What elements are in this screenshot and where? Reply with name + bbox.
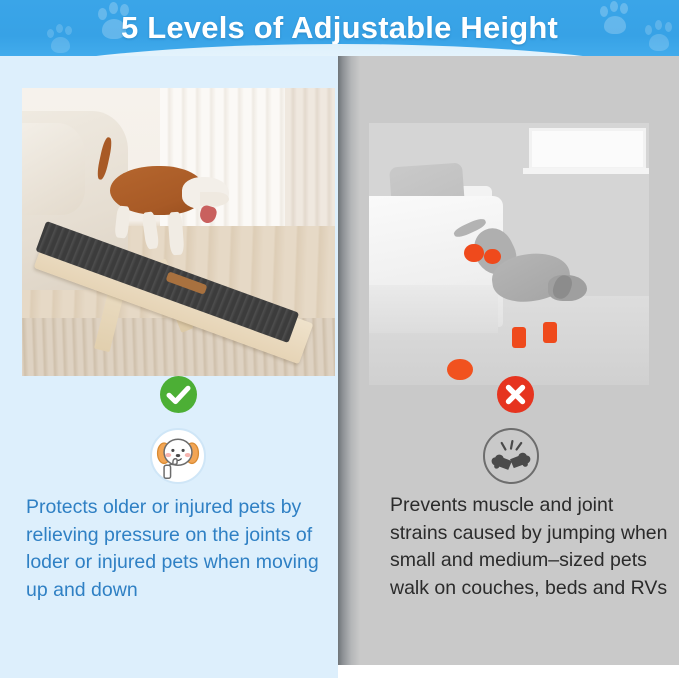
dog-snout bbox=[200, 192, 228, 206]
status-badge-check bbox=[160, 376, 197, 413]
sofa-cushion bbox=[22, 123, 85, 215]
living-room-scene bbox=[22, 88, 335, 376]
window bbox=[529, 128, 647, 170]
toy-ball bbox=[447, 359, 472, 380]
infographic-page: 5 Levels of Adjustable Height bbox=[0, 0, 679, 678]
paw-strain-highlight bbox=[512, 327, 526, 348]
left-caption-text: Protects older or injured pets by reliev… bbox=[26, 494, 326, 604]
broken-bone-joint-icon bbox=[483, 428, 539, 484]
joint-strain-highlight bbox=[484, 249, 501, 265]
dog-jumping-photo bbox=[369, 123, 649, 385]
joint-strain-highlight bbox=[464, 244, 484, 262]
bedroom-scene bbox=[369, 123, 649, 385]
right-caption-text: Prevents muscle and joint strains caused… bbox=[390, 492, 670, 602]
status-badge-cross bbox=[497, 376, 534, 413]
paw-strain-highlight bbox=[543, 322, 557, 343]
dog-ramp-photo bbox=[22, 88, 335, 376]
curtain-side bbox=[285, 88, 335, 232]
panel-edge-shadow bbox=[338, 56, 360, 665]
sofa-base bbox=[369, 285, 498, 332]
happy-dog-thumbs-up-icon bbox=[150, 428, 206, 484]
window-sill bbox=[523, 168, 649, 175]
